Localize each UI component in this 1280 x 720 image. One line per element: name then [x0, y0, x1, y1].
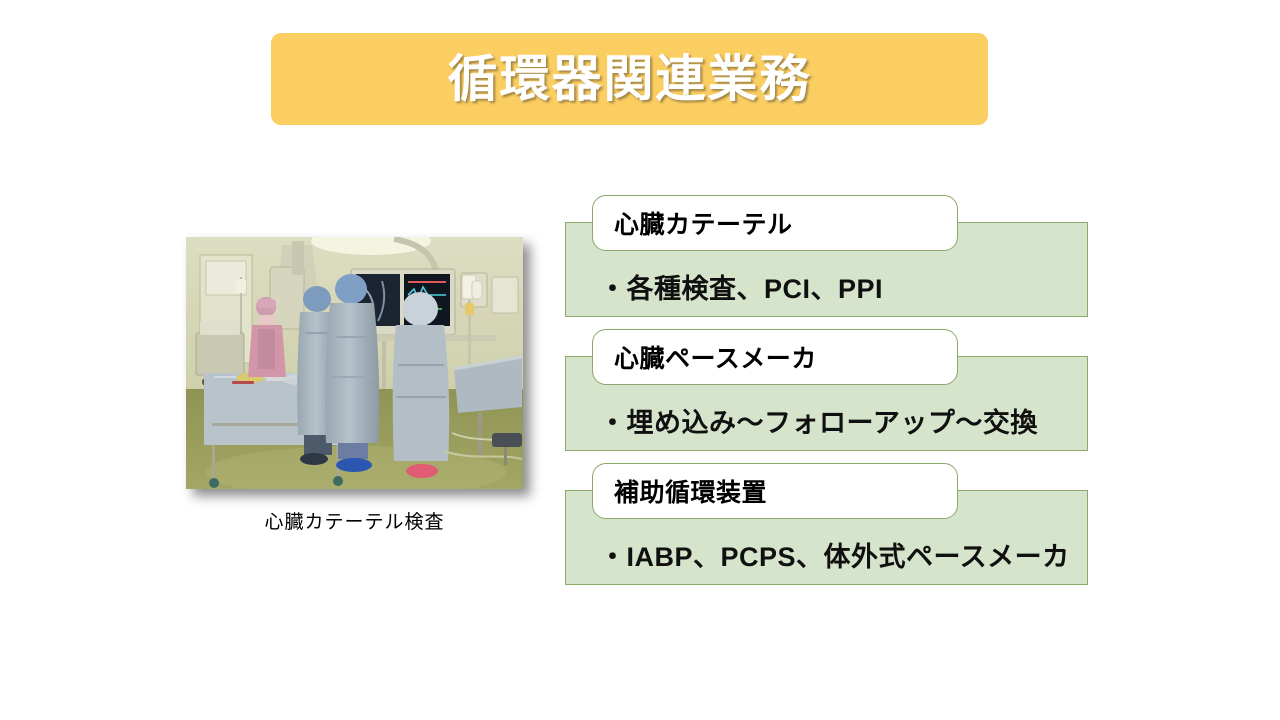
cardiac-catheterization-lab-photo: [186, 237, 523, 489]
group-body-text: ・各種検査、PCI、PPI: [599, 267, 883, 306]
photo-image: [186, 237, 523, 489]
slide-title-banner: 循環器関連業務: [271, 33, 988, 125]
page-title: 循環器関連業務: [448, 54, 812, 104]
group-header-box[interactable]: 補助循環装置: [592, 463, 958, 519]
group-header-label: 心臓ペースメーカ: [593, 339, 817, 375]
group-header-box[interactable]: 心臓ペースメーカ: [592, 329, 958, 385]
group-header-label: 補助循環装置: [593, 473, 767, 509]
group-header-box[interactable]: 心臓カテーテル: [592, 195, 958, 251]
photo-illustration: [186, 237, 523, 489]
photo-caption: 心臓カテーテル検査: [186, 507, 523, 534]
group-body-text: ・埋め込み〜フォローアップ〜交換: [599, 401, 1038, 440]
group-body-text: ・IABP、PCPS、体外式ペースメーカ: [599, 535, 1070, 574]
group-header-label: 心臓カテーテル: [593, 205, 793, 241]
